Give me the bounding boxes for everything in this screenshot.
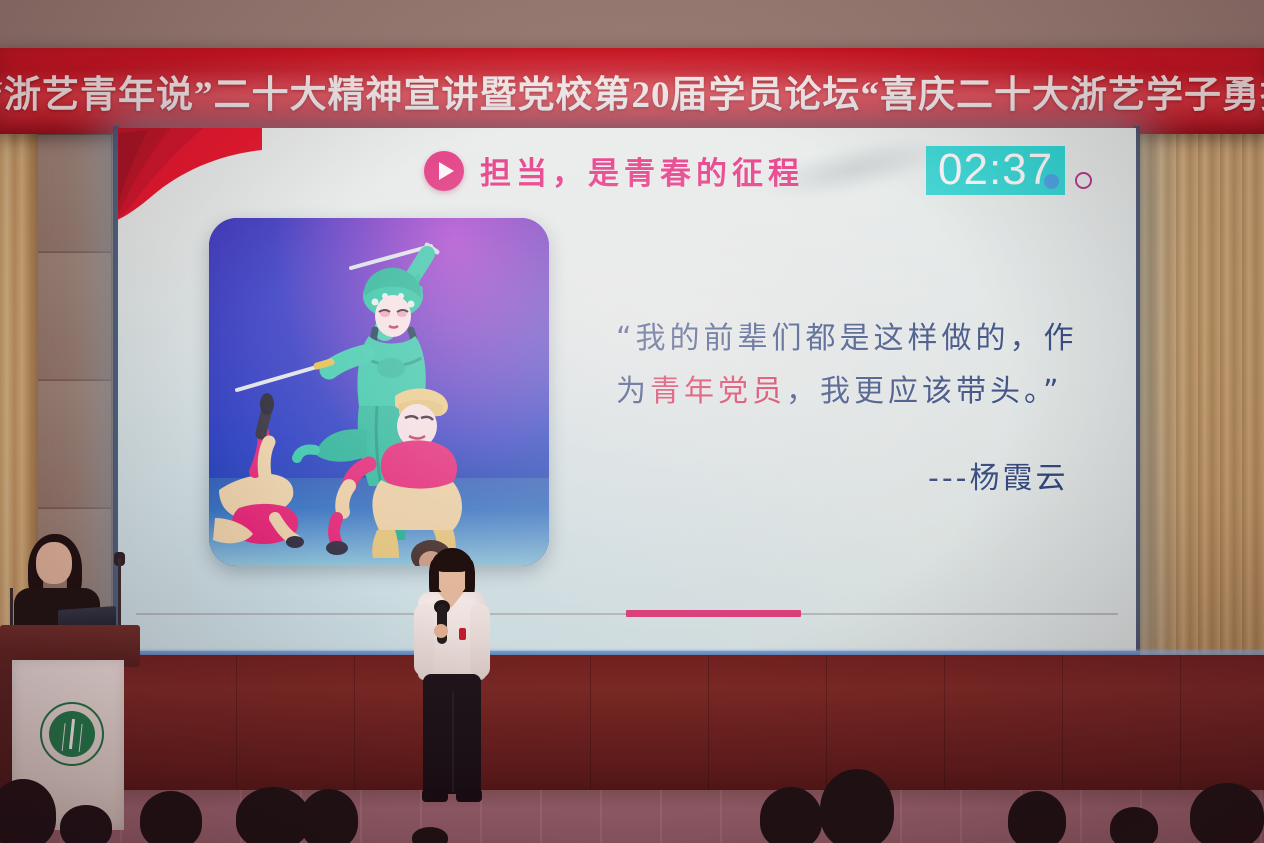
- auditorium-scene: 艺术职业学院“浙艺青年说”二十大精神宣讲暨党校第20届学员论坛“喜庆二十大浙艺学…: [0, 0, 1264, 843]
- presenter-trousers: [423, 674, 481, 794]
- audience-head: [140, 791, 202, 843]
- quote-line-1-part-a: “我的前辈们都是这样做的，: [616, 321, 1044, 356]
- presenter: [404, 548, 500, 810]
- quote-block: “我的前辈们都是这样做的，作 为青年党员，我更应该带头。”: [616, 313, 1116, 418]
- presentation-slide: 担当，是青春的征程 02:37: [118, 128, 1136, 655]
- countdown-timer: 02:37: [926, 146, 1092, 195]
- presenter-arm-right: [470, 604, 490, 678]
- audience-head: [236, 787, 310, 843]
- timer-ring-icon: [1075, 172, 1092, 189]
- stage-wood-paneling: [0, 655, 1264, 805]
- presenter-arm-left: [414, 604, 434, 676]
- audience-head: [300, 789, 358, 843]
- projection-screen: 担当，是青春的征程 02:37: [118, 128, 1136, 655]
- slide-divider-accent: [626, 610, 801, 617]
- play-icon: [424, 151, 464, 191]
- presenter-badge: [459, 628, 466, 640]
- presenter-hand: [434, 624, 448, 638]
- quote-highlight: 青年党员: [650, 374, 786, 409]
- quote-attribution: ---杨霞云: [928, 453, 1068, 497]
- audience-head: [820, 769, 894, 843]
- timer-box: 02:37: [926, 146, 1065, 195]
- slide-title: 担当，是青春的征程: [480, 148, 804, 193]
- event-banner-text: 艺术职业学院“浙艺青年说”二十大精神宣讲暨党校第20届学员论坛“喜庆二十大浙艺学…: [0, 64, 1264, 118]
- audience-head: [60, 805, 112, 843]
- quote-line-1-part-b: 作: [1044, 321, 1078, 356]
- audience-head: [760, 787, 822, 843]
- event-banner: 艺术职业学院“浙艺青年说”二十大精神宣讲暨党校第20届学员论坛“喜庆二十大浙艺学…: [0, 48, 1264, 134]
- opera-performance-photo: [209, 218, 549, 566]
- quote-line-1: “我的前辈们都是这样做的，作: [616, 313, 1116, 366]
- quote-line-2-part-b: ，我更应该带头。”: [786, 374, 1063, 409]
- red-drape-decoration: [118, 128, 262, 224]
- school-emblem-icon: [40, 702, 104, 766]
- audience-head: [1008, 791, 1066, 843]
- audience-head: [412, 827, 448, 843]
- performers-illustration: [209, 218, 549, 566]
- timer-value: 02:37: [938, 148, 1053, 192]
- wall-panel: [34, 380, 112, 508]
- audience-head: [1110, 807, 1158, 843]
- wall-panel: [34, 134, 112, 252]
- slide-title-row: 担当，是青春的征程: [424, 148, 804, 193]
- presenter-shoe-right: [456, 788, 482, 802]
- timer-dot-icon: [1044, 174, 1059, 189]
- presenter-shoe-left: [422, 788, 448, 802]
- wall-panel: [34, 252, 112, 380]
- audience-head: [1190, 783, 1264, 843]
- quote-line-2-part-a: 为: [616, 374, 650, 409]
- quote-line-2: 为青年党员，我更应该带头。”: [616, 366, 1116, 419]
- podium-speaker-head: [36, 542, 72, 584]
